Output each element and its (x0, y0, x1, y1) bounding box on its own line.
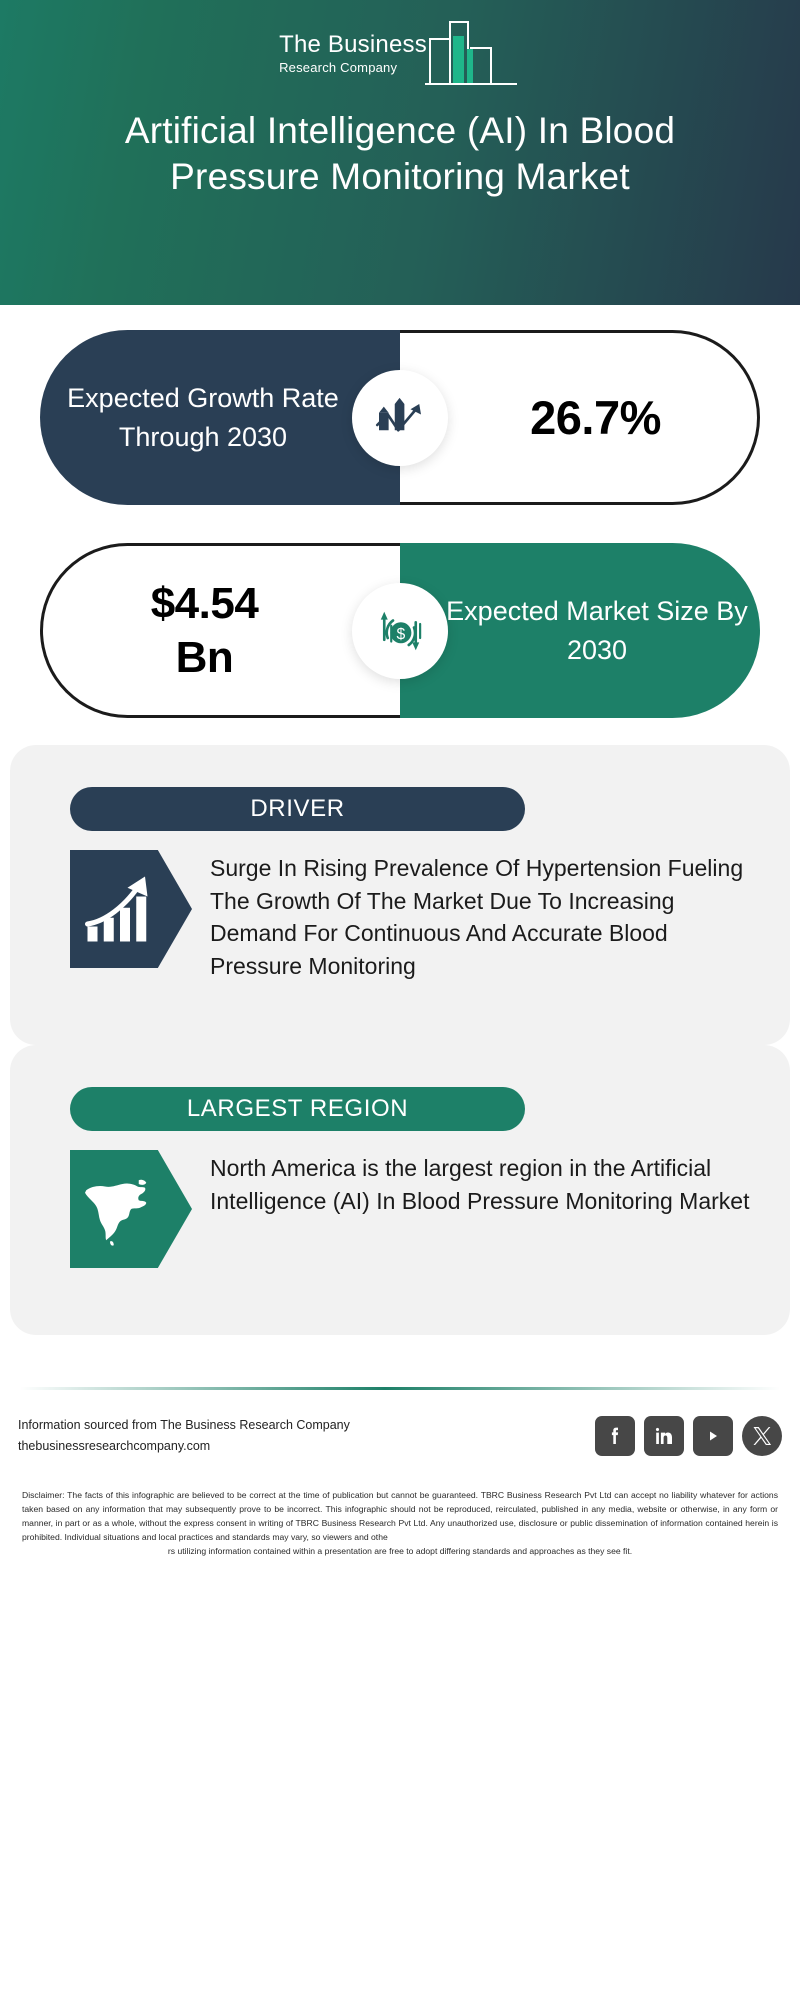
linkedin-icon[interactable] (644, 1416, 684, 1456)
driver-text: Surge In Rising Prevalence Of Hypertensi… (210, 850, 750, 983)
stat-card-growth-rate: Expected Growth Rate Through 2030 26.7% (40, 330, 760, 505)
bar-chart-growth-arrow-icon (70, 850, 192, 968)
company-logo: The Business Research Company (279, 16, 521, 88)
stat-card-market-size: $4.54 Bn Expected Market Size By 2030 $ (40, 543, 760, 718)
dollar-cycle-icon: $ (352, 583, 448, 679)
growth-rate-label-half: Expected Growth Rate Through 2030 (40, 330, 400, 505)
source-line-1: Information sourced from The Business Re… (18, 1415, 350, 1436)
bar-chart-logo-mark-icon (423, 18, 521, 88)
market-size-value: $4.54 Bn (151, 577, 259, 684)
driver-body: Surge In Rising Prevalence Of Hypertensi… (70, 850, 750, 983)
disclaimer-body: Disclaimer: The facts of this infographi… (22, 1490, 778, 1542)
youtube-icon[interactable] (693, 1416, 733, 1456)
growth-chart-arrow-icon (352, 370, 448, 466)
facebook-icon[interactable] (595, 1416, 635, 1456)
north-america-map-icon (70, 1150, 192, 1268)
logo-line-2: Research Company (279, 61, 397, 74)
source-attribution: Information sourced from The Business Re… (18, 1415, 350, 1458)
logo-text-block: The Business Research Company (279, 33, 427, 88)
panel-driver: DRIVER Surge In Rising Prevalence Of Hyp… (10, 745, 790, 1045)
growth-rate-value: 26.7% (530, 389, 661, 446)
panel-largest-region: LARGEST REGION North America is the larg… (10, 1045, 790, 1335)
driver-pill-label: DRIVER (250, 795, 344, 823)
footer-divider (20, 1387, 780, 1390)
social-links (595, 1416, 782, 1456)
growth-rate-label: Expected Growth Rate Through 2030 (40, 379, 366, 456)
logo-line-1: The Business (279, 33, 427, 57)
footer: Information sourced from The Business Re… (0, 1415, 800, 1458)
disclaimer-text: Disclaimer: The facts of this infographi… (22, 1489, 778, 1559)
market-size-value-line1: $4.54 (151, 579, 259, 628)
largest-region-pill: LARGEST REGION (70, 1087, 525, 1131)
largest-region-text: North America is the largest region in t… (210, 1150, 750, 1217)
driver-pill: DRIVER (70, 787, 525, 831)
growth-rate-value-half: 26.7% (400, 330, 760, 505)
header-banner: The Business Research Company Artificial… (0, 0, 800, 305)
source-line-2[interactable]: thebusinessresearchcompany.com (18, 1436, 350, 1457)
svg-text:$: $ (396, 625, 405, 642)
market-size-label-half: Expected Market Size By 2030 (400, 543, 760, 718)
largest-region-pill-label: LARGEST REGION (187, 1095, 408, 1123)
market-size-label: Expected Market Size By 2030 (434, 592, 760, 669)
disclaimer-last-line: rs utilizing information contained withi… (22, 1545, 778, 1559)
largest-region-body: North America is the largest region in t… (70, 1150, 750, 1268)
market-size-value-half: $4.54 Bn (40, 543, 400, 718)
x-twitter-icon[interactable] (742, 1416, 782, 1456)
page-title: Artificial Intelligence (AI) In Blood Pr… (70, 108, 730, 200)
market-size-value-line2: Bn (176, 633, 234, 682)
